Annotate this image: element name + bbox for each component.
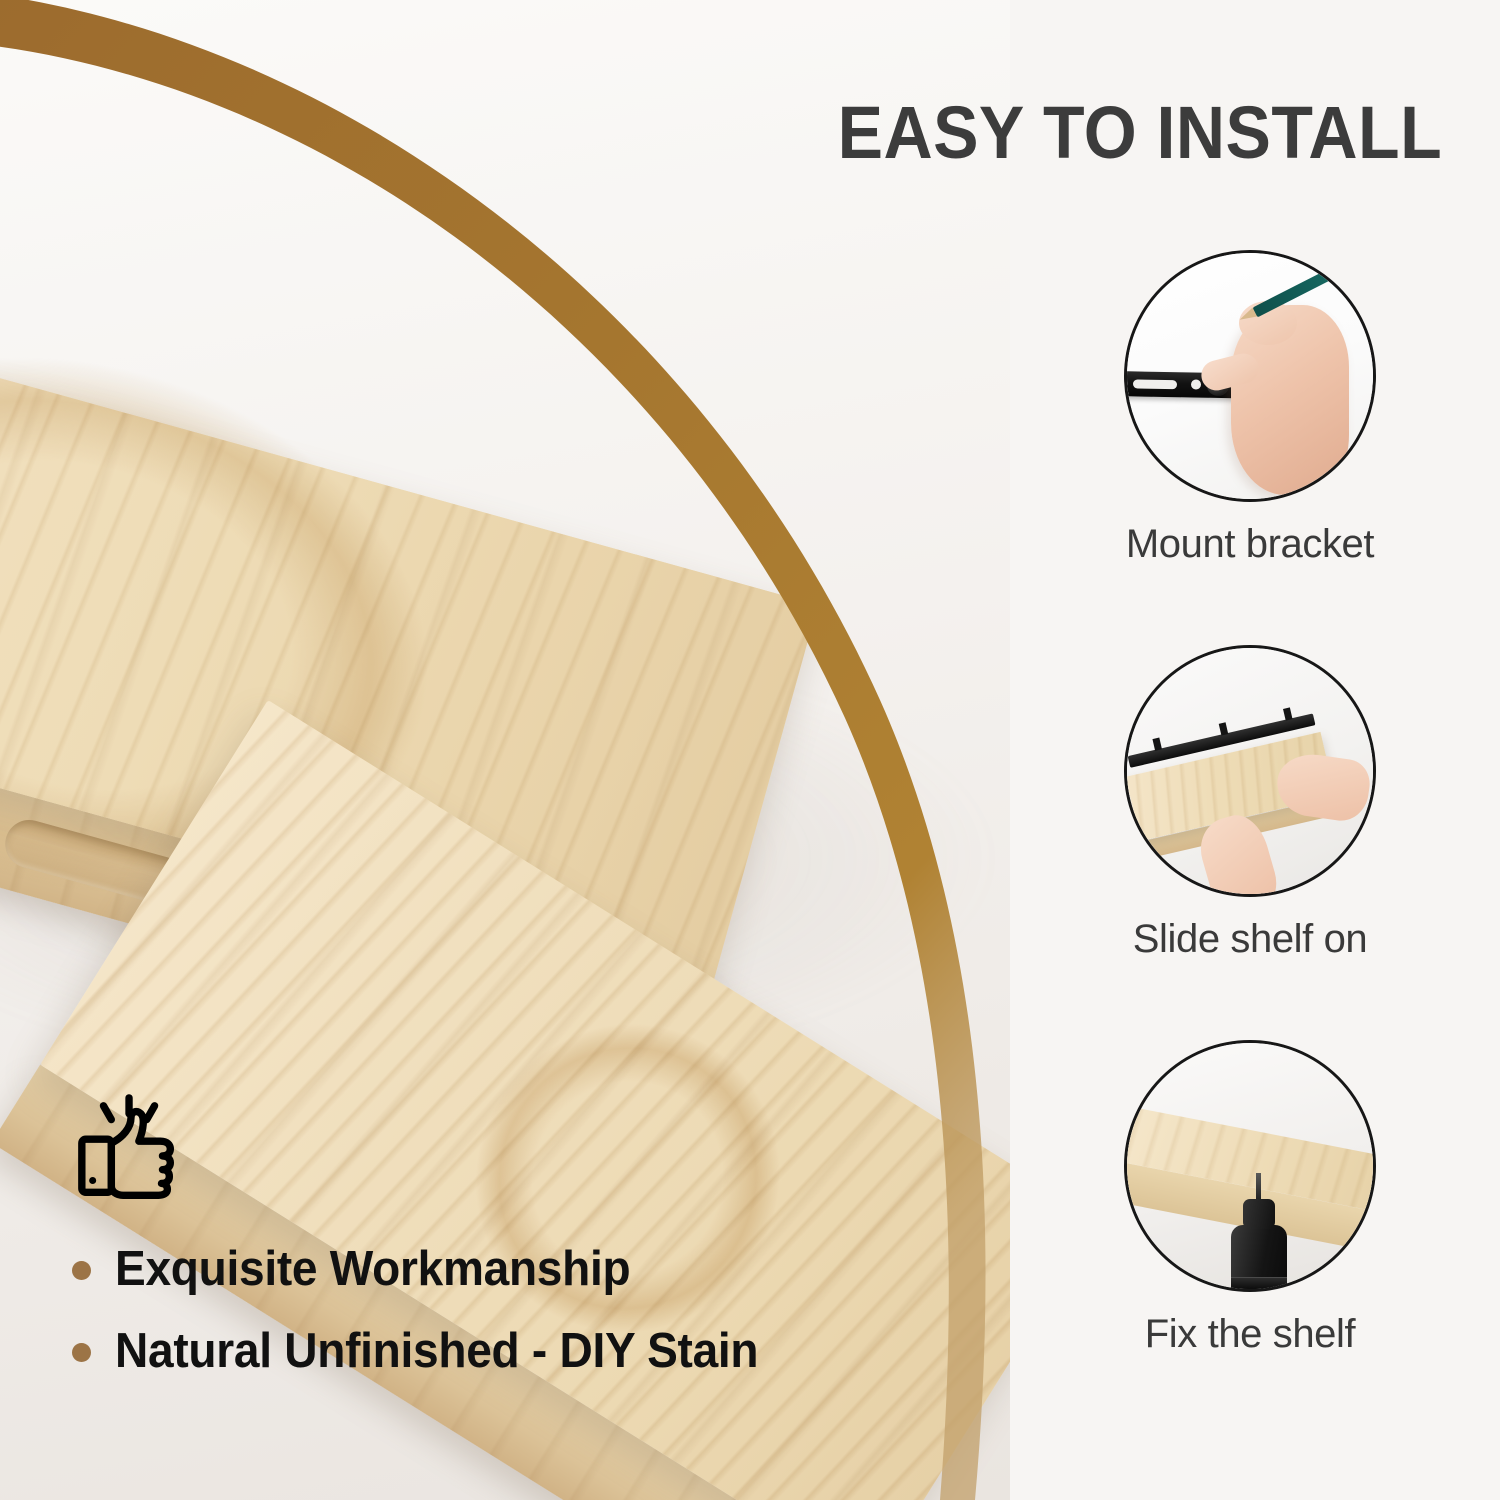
step-mount-bracket: Mount bracket bbox=[1000, 250, 1500, 645]
step-label: Slide shelf on bbox=[1000, 917, 1500, 962]
product-infographic: EASY TO INSTALL Mount bracket bbox=[0, 0, 1500, 1500]
fix-shelf-photo bbox=[1124, 1040, 1376, 1292]
feature-list: Exquisite Workmanship Natural Unfinished… bbox=[72, 1241, 902, 1379]
step-fix-shelf: Fix the shelf bbox=[1000, 1040, 1500, 1435]
step-label: Mount bracket bbox=[1000, 522, 1500, 567]
bullet-dot bbox=[72, 1343, 91, 1362]
page-title: EASY TO INSTALL bbox=[837, 96, 1442, 170]
step-slide-shelf: Slide shelf on bbox=[1000, 645, 1500, 1040]
feature-highlights: Exquisite Workmanship Natural Unfinished… bbox=[72, 1092, 902, 1405]
thumbs-up-icon bbox=[72, 1092, 902, 1215]
slide-shelf-photo bbox=[1124, 645, 1376, 897]
feature-label: Exquisite Workmanship bbox=[115, 1241, 630, 1297]
bullet-dot bbox=[72, 1261, 91, 1280]
feature-label: Natural Unfinished - DIY Stain bbox=[115, 1323, 758, 1379]
mount-bracket-photo bbox=[1124, 250, 1376, 502]
install-steps: Mount bracket Slide shelf on bbox=[1000, 250, 1500, 1435]
list-item: Natural Unfinished - DIY Stain bbox=[72, 1323, 902, 1379]
power-drill bbox=[1231, 1225, 1287, 1292]
list-item: Exquisite Workmanship bbox=[72, 1241, 902, 1297]
step-label: Fix the shelf bbox=[1000, 1312, 1500, 1357]
